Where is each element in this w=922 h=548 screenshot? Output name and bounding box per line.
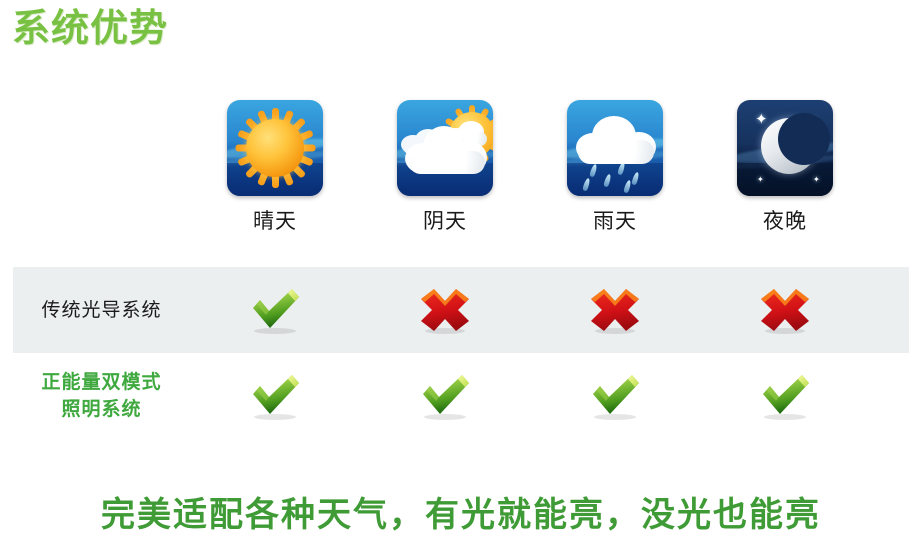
sunny-icon bbox=[227, 100, 323, 196]
cloud-icon bbox=[405, 134, 487, 174]
row-marks bbox=[190, 286, 909, 334]
weather-column-sunny: 晴天 bbox=[190, 100, 360, 245]
cell-sunny bbox=[190, 372, 360, 420]
cloud-icon bbox=[576, 120, 656, 164]
weather-column-rainy: 雨天 bbox=[530, 100, 700, 245]
row-label-dual-mode: 正能量双模式 照明系统 bbox=[13, 369, 190, 423]
cell-night bbox=[700, 372, 870, 420]
check-icon bbox=[247, 286, 303, 334]
cross-icon bbox=[757, 286, 813, 334]
night-icon: ✦ ✦ ✦ ✦ ✦ bbox=[737, 100, 833, 196]
cell-cloudy bbox=[360, 286, 530, 334]
moon-icon bbox=[761, 118, 817, 174]
weather-column-night: ✦ ✦ ✦ ✦ ✦ 夜晚 bbox=[700, 100, 870, 245]
comparison-table: 传统光导系统 bbox=[13, 267, 909, 439]
check-icon bbox=[757, 372, 813, 420]
row-marks bbox=[190, 372, 909, 420]
star-icon: ✦ bbox=[757, 176, 764, 184]
cloudy-icon bbox=[397, 100, 493, 196]
tagline: 完美适配各种天气，有光就能亮，没光也能亮 bbox=[0, 487, 922, 536]
check-icon bbox=[417, 372, 473, 420]
cell-rainy bbox=[530, 372, 700, 420]
weather-label-sunny: 晴天 bbox=[253, 210, 297, 234]
cell-cloudy bbox=[360, 372, 530, 420]
cell-rainy bbox=[530, 286, 700, 334]
cell-night bbox=[700, 286, 870, 334]
weather-header-row: 晴天 阴天 bbox=[190, 100, 910, 245]
check-icon bbox=[587, 372, 643, 420]
table-row: 正能量双模式 照明系统 bbox=[13, 353, 909, 439]
weather-label-cloudy: 阴天 bbox=[423, 210, 467, 234]
weather-label-rainy: 雨天 bbox=[593, 210, 637, 234]
row-label-line1: 传统光导系统 bbox=[41, 300, 161, 321]
row-label-line1: 正能量双模式 bbox=[41, 372, 161, 393]
cross-icon bbox=[587, 286, 643, 334]
cross-icon bbox=[417, 286, 473, 334]
horizon-decoration bbox=[567, 163, 663, 196]
page-title: 系统优势 bbox=[12, 4, 168, 54]
row-label-line2: 照明系统 bbox=[13, 396, 190, 423]
star-icon: ✦ bbox=[755, 112, 768, 127]
check-icon bbox=[247, 372, 303, 420]
sun-icon bbox=[246, 119, 304, 177]
rainy-icon bbox=[567, 100, 663, 196]
weather-label-night: 夜晚 bbox=[763, 210, 807, 234]
star-icon: ✦ bbox=[813, 176, 820, 184]
cell-sunny bbox=[190, 286, 360, 334]
weather-column-cloudy: 阴天 bbox=[360, 100, 530, 245]
row-label-traditional: 传统光导系统 bbox=[13, 297, 190, 324]
table-row: 传统光导系统 bbox=[13, 267, 909, 353]
